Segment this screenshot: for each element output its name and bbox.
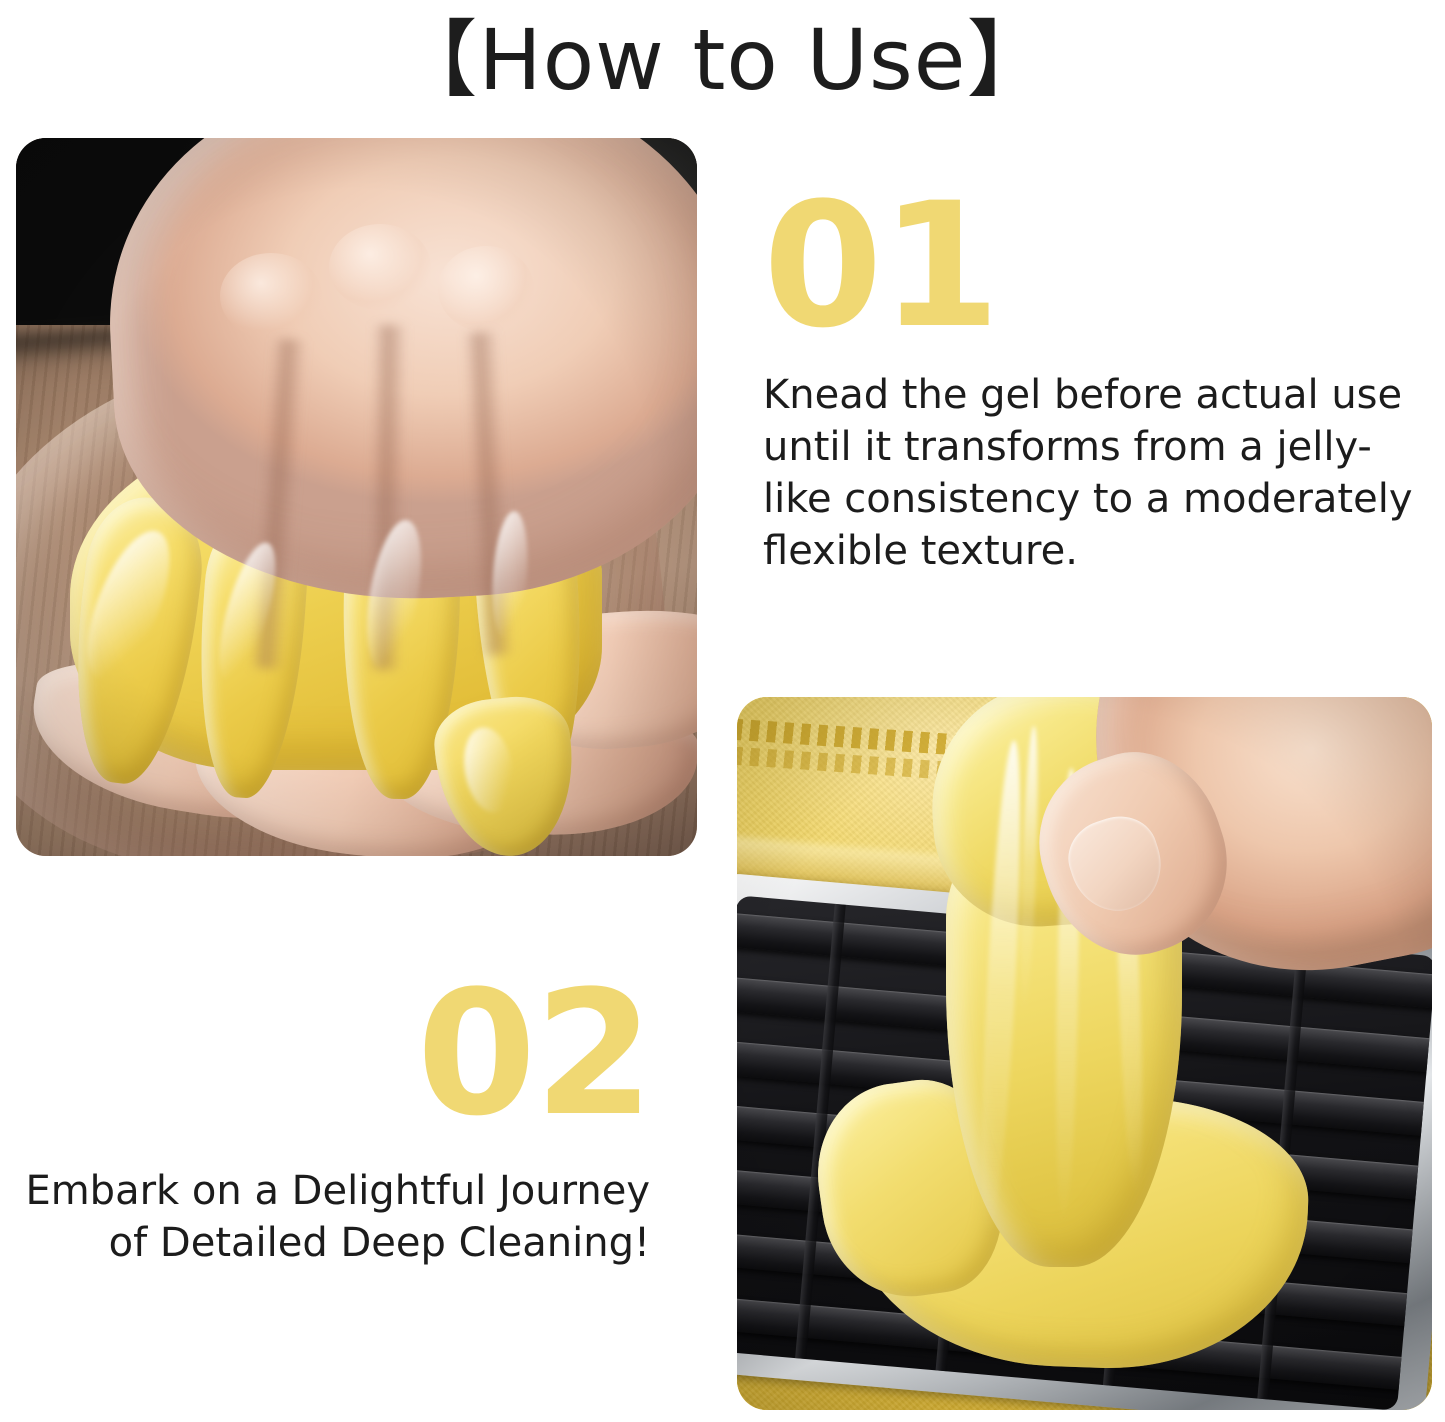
photo-vignette (737, 697, 1432, 1410)
infographic-page: 【How to Use】 01 Knead the gel before (0, 0, 1445, 1422)
step-01: 01 Knead the gel before actual use until… (763, 184, 1423, 577)
step-02-number: 02 (0, 972, 660, 1135)
step-02-text: Embark on a Delightful Journey of Detail… (0, 1165, 660, 1269)
photo-gel-cleaning-car-vent (737, 697, 1432, 1410)
step-01-text: Knead the gel before actual use until it… (763, 369, 1423, 577)
photo-knead-gel-in-hands (16, 138, 697, 856)
photo-vignette (16, 138, 697, 856)
step-01-number: 01 (763, 184, 1423, 347)
header: 【How to Use】 (0, 0, 1445, 120)
step-02: 02 Embark on a Delightful Journey of Det… (0, 972, 660, 1269)
page-title: 【How to Use】 (394, 18, 1052, 102)
